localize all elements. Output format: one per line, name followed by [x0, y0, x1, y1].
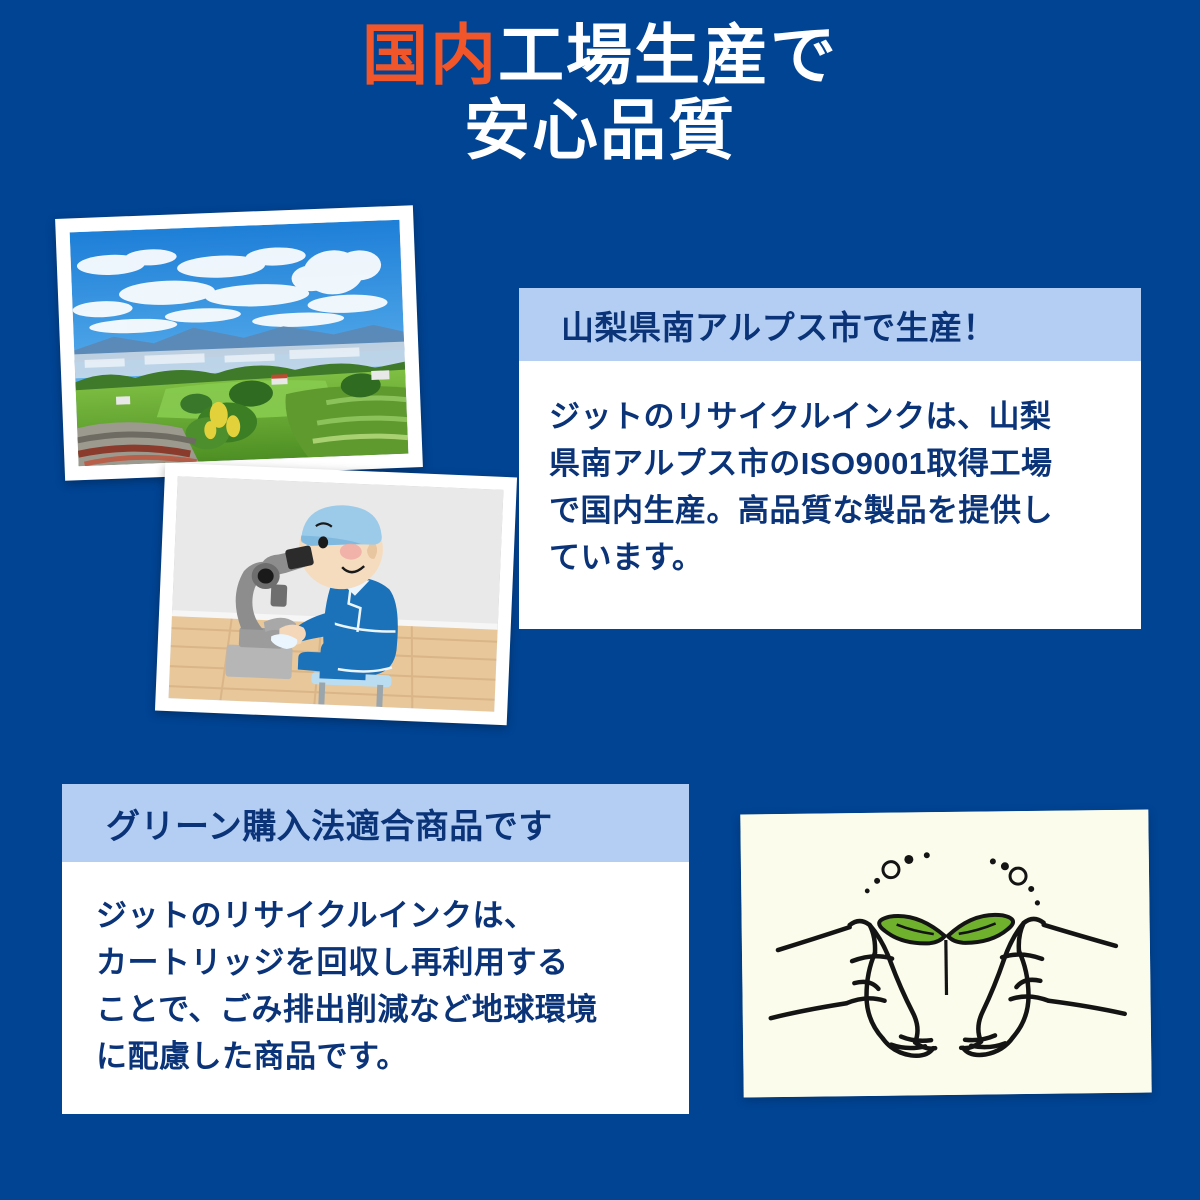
- title-highlight: 国内: [362, 18, 498, 92]
- microscope-photo-image: [168, 476, 503, 711]
- landscape-photo-image: [70, 220, 409, 466]
- panel-production-line: ジットのリサイクルインクは、山梨: [549, 393, 1115, 440]
- title-line-2: 安心品質: [0, 93, 1200, 168]
- eco-sprout-hands-illustration: [740, 810, 1151, 1098]
- title-line-1: 国内工場生産で: [0, 18, 1200, 93]
- panel-production-line: で国内生産。高品質な製品を提供し: [549, 487, 1115, 534]
- microscope-inspection-photo: [155, 463, 517, 726]
- title-rest: 工場生産で: [498, 18, 838, 92]
- panel-green-purchase: グリーン購入法適合商品です ジットのリサイクルインクは、 カートリッジを回収し再…: [62, 784, 689, 1114]
- panel-green-purchase-header: グリーン購入法適合商品です: [62, 784, 689, 862]
- landscape-photo: [55, 205, 423, 481]
- panel-production-body: ジットのリサイクルインクは、山梨 県南アルプス市のISO9001取得工場 で国内…: [519, 361, 1141, 581]
- panel-green-purchase-body: ジットのリサイクルインクは、 カートリッジを回収し再利用する ことで、ごみ排出削…: [62, 862, 689, 1080]
- panel-production-line: 県南アルプス市のISO9001取得工場: [549, 440, 1115, 487]
- panel-green-line: ジットのリサイクルインクは、: [96, 892, 669, 939]
- panel-green-line: カートリッジを回収し再利用する: [96, 939, 669, 986]
- panel-production: 山梨県南アルプス市で生産！ ジットのリサイクルインクは、山梨 県南アルプス市のI…: [519, 288, 1141, 629]
- page-title: 国内工場生産で 安心品質: [0, 18, 1200, 168]
- panel-production-line: ています。: [549, 534, 1115, 581]
- panel-green-line: ことで、ごみ排出削減など地球環境: [96, 986, 669, 1033]
- panel-production-header: 山梨県南アルプス市で生産！: [519, 288, 1141, 361]
- ad-banner: 国内工場生産で 安心品質: [0, 0, 1200, 1200]
- panel-green-line: に配慮した商品です。: [96, 1033, 669, 1080]
